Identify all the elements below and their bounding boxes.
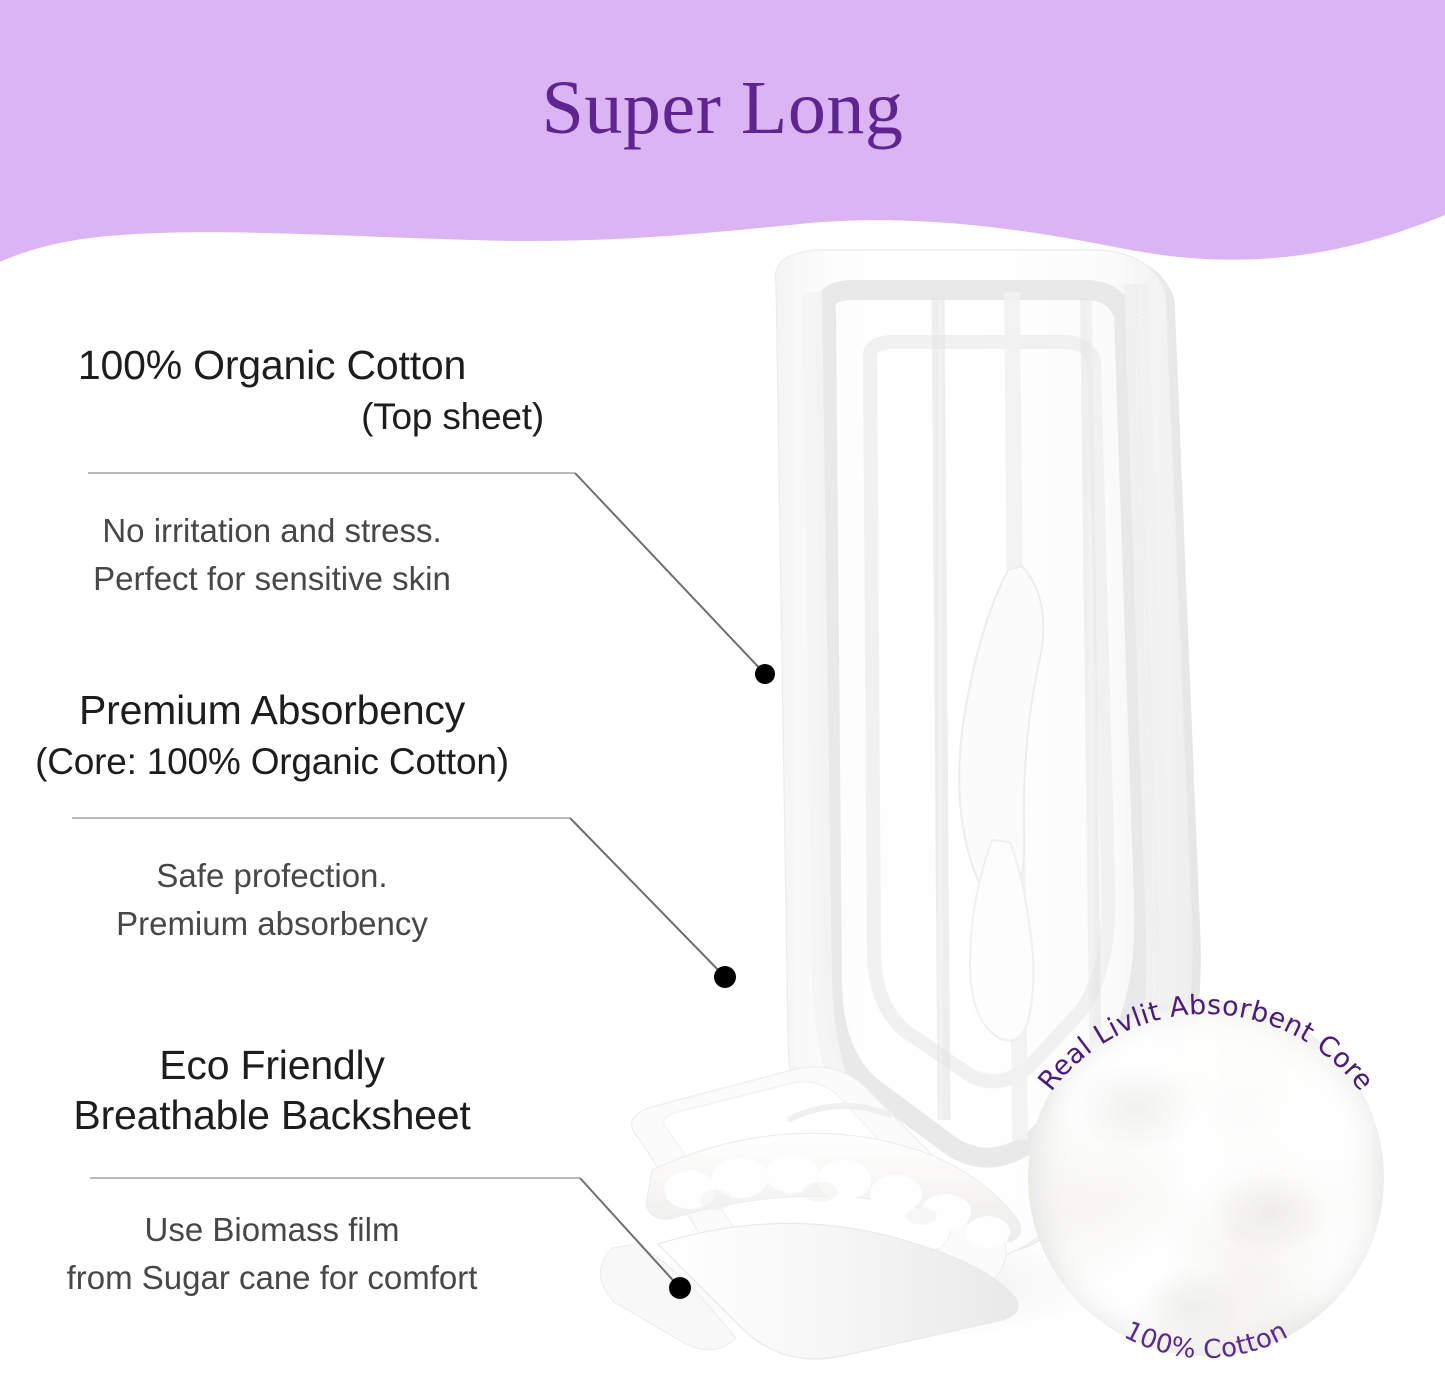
feature-block-organic-cotton: 100% Organic Cotton (Top sheet) No irrit… [0, 340, 600, 603]
feature-3-heading-line-1: Eco Friendly [0, 1040, 600, 1090]
feature-list: 100% Organic Cotton (Top sheet) No irrit… [0, 300, 620, 1360]
feature-1-body-line-1: No irritation and stress. [0, 507, 600, 555]
feature-3-body-line-2: from Sugar cane for comfort [0, 1254, 600, 1302]
feature-1-subheading: (Top sheet) [0, 394, 600, 439]
cotton-balls-photo [1028, 1000, 1384, 1356]
feature-1-heading: 100% Organic Cotton [0, 340, 600, 390]
feature-block-eco-backsheet: Eco Friendly Breathable Backsheet Use Bi… [0, 1040, 600, 1302]
feature-2-subheading: (Core: 100% Organic Cotton) [0, 739, 600, 784]
feature-2-heading: Premium Absorbency [0, 685, 600, 735]
cotton-core-inset: Real Livlit Absorbent Core 100% Cotton [1028, 1000, 1384, 1356]
feature-3-body-line-1: Use Biomass film [0, 1206, 600, 1254]
feature-2-body-line-1: Safe profection. [0, 852, 600, 900]
infographic-page: Real Livlit Absorbent Core 100% Cotton S… [0, 0, 1445, 1395]
feature-2-body-line-2: Premium absorbency [0, 900, 600, 948]
feature-block-premium-absorbency: Premium Absorbency (Core: 100% Organic C… [0, 685, 600, 948]
feature-3-heading-line-2: Breathable Backsheet [0, 1090, 600, 1140]
header-band [0, 0, 1445, 300]
feature-1-body-line-2: Perfect for sensitive skin [0, 555, 600, 603]
